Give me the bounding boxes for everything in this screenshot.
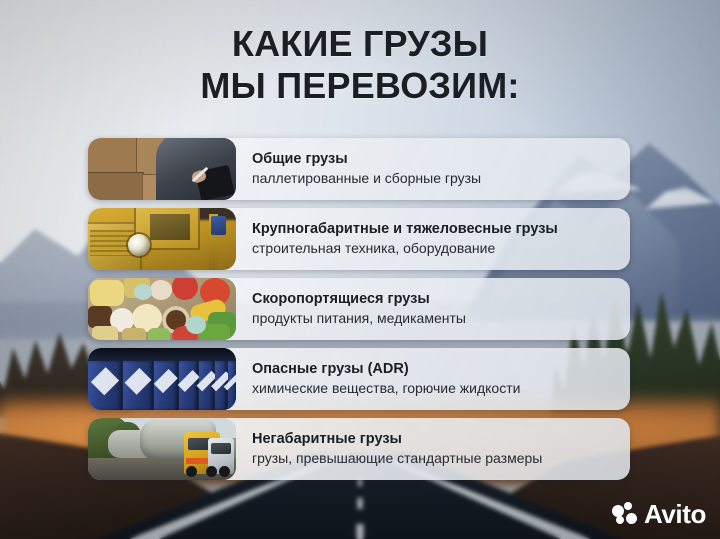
- list-item[interactable]: Скоропортящиеся грузы продукты питания, …: [88, 278, 630, 340]
- list-item-title: Скоропортящиеся грузы: [252, 291, 618, 308]
- cargo-types-poster: КАКИЕ ГРУЗЫ МЫ ПЕРЕВОЗИМ: Общие грузы па…: [0, 0, 720, 539]
- assorted-fresh-food-photo: [88, 278, 236, 340]
- list-item-body: Общие грузы паллетированные и сборные гр…: [236, 138, 630, 200]
- title-line-2: МЫ ПЕРЕВОЗИМ:: [0, 68, 720, 105]
- title-line-1: КАКИЕ ГРУЗЫ: [0, 26, 720, 63]
- avito-wordmark: Avito: [644, 501, 706, 527]
- list-item-body: Негабаритные грузы грузы, превышающие ст…: [236, 418, 630, 480]
- list-item[interactable]: Опасные грузы (ADR) химические вещества,…: [88, 348, 630, 410]
- blue-chemical-barrels-photo: [88, 348, 236, 410]
- list-item-body: Опасные грузы (ADR) химические вещества,…: [236, 348, 630, 410]
- list-item-title: Крупногабаритные и тяжеловесные грузы: [252, 221, 618, 238]
- list-item-title: Опасные грузы (ADR): [252, 361, 618, 378]
- cardboard-boxes-inspector-photo: [88, 138, 236, 200]
- list-item-subtitle: паллетированные и сборные грузы: [252, 170, 618, 187]
- list-item-body: Крупногабаритные и тяжеловесные грузы ст…: [236, 208, 630, 270]
- list-item-title: Общие грузы: [252, 151, 618, 168]
- list-item[interactable]: Крупногабаритные и тяжеловесные грузы ст…: [88, 208, 630, 270]
- cargo-type-list: Общие грузы паллетированные и сборные гр…: [88, 138, 630, 480]
- page-title: КАКИЕ ГРУЗЫ МЫ ПЕРЕВОЗИМ:: [0, 26, 720, 104]
- list-item-title: Негабаритные грузы: [252, 431, 618, 448]
- list-item-body: Скоропортящиеся грузы продукты питания, …: [236, 278, 630, 340]
- avito-dots-logo: [612, 502, 638, 526]
- yellow-construction-machine-photo: [88, 208, 236, 270]
- list-item[interactable]: Общие грузы паллетированные и сборные гр…: [88, 138, 630, 200]
- list-item[interactable]: Негабаритные грузы грузы, превышающие ст…: [88, 418, 630, 480]
- list-item-subtitle: строительная техника, оборудование: [252, 240, 618, 257]
- avito-watermark: Avito: [612, 501, 706, 527]
- list-item-subtitle: химические вещества, горючие жидкости: [252, 380, 618, 397]
- list-item-subtitle: грузы, превышающие стандартные размеры: [252, 450, 618, 467]
- list-item-subtitle: продукты питания, медикаменты: [252, 310, 618, 327]
- oversized-load-truck-photo: [88, 418, 236, 480]
